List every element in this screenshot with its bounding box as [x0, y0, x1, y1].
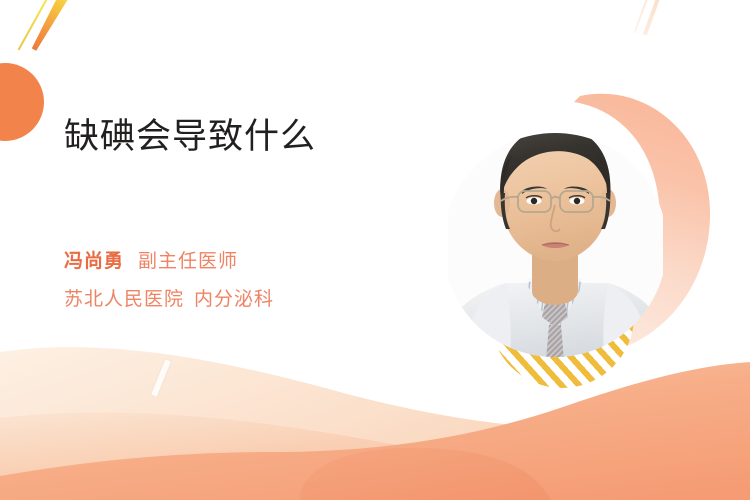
doctor-department: 内分泌科 — [194, 289, 274, 310]
doctor-portrait — [448, 95, 663, 360]
doctor-video-cover-card: 缺碘会导致什么 冯尚勇副主任医师 苏北人民医院内分泌科 — [0, 0, 750, 500]
faint-ribbon-stroke-a — [643, 0, 661, 35]
doctor-affiliation-row: 苏北人民医院内分泌科 — [64, 288, 274, 313]
page-title: 缺碘会导致什么 — [64, 115, 316, 159]
orange-circle — [0, 63, 44, 141]
orange-ribbon-stroke — [29, 0, 72, 52]
doctor-name-row: 冯尚勇副主任医师 — [64, 250, 238, 275]
doctor-hospital: 苏北人民医院 — [64, 289, 184, 310]
doctor-name: 冯尚勇 — [64, 251, 124, 272]
doctor-rank: 副主任医师 — [138, 251, 238, 272]
